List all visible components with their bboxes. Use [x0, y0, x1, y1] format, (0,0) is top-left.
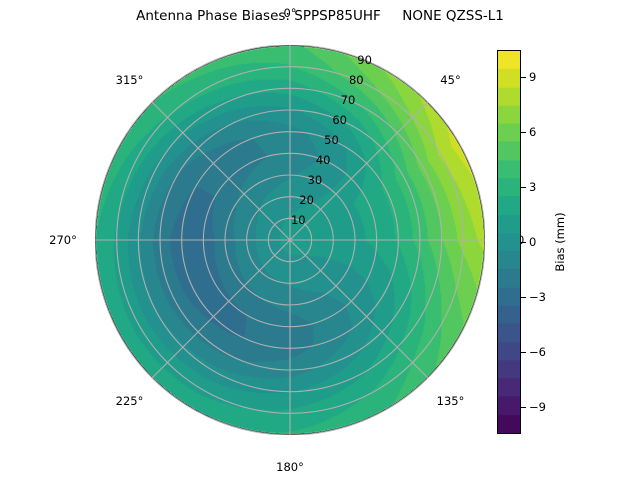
radial-tick-label-80: 80: [349, 73, 364, 87]
radial-tick-label-30: 30: [308, 173, 323, 187]
chart-title: Antenna Phase Biases: SPPSP85UHF NONE QZ…: [0, 8, 640, 24]
colorbar-tick-mark: [521, 352, 526, 353]
radial-tick-label-60: 60: [332, 113, 347, 127]
colorbar[interactable]: 9630−3−6−9: [497, 50, 521, 434]
angular-tick-label-225: 225°: [116, 394, 144, 408]
angular-tick-label-135: 135°: [437, 394, 465, 408]
radial-tick-label-50: 50: [324, 133, 339, 147]
colorbar-tick-mark: [521, 242, 526, 243]
colorbar-tick-label--6: −6: [529, 345, 546, 359]
polar-data-disc: [95, 45, 485, 435]
colorbar-tick-label-9: 9: [529, 70, 536, 84]
polar-contour-canvas: [96, 46, 484, 434]
colorbar-tick-mark: [521, 407, 526, 408]
colorbar-gradient: [497, 50, 521, 434]
figure-canvas: Antenna Phase Biases: SPPSP85UHF NONE QZ…: [0, 0, 640, 480]
colorbar-tick-mark: [521, 187, 526, 188]
angular-tick-label-45: 45°: [440, 73, 460, 87]
angular-tick-label-0: 0°: [283, 6, 296, 20]
radial-tick-label-40: 40: [316, 153, 331, 167]
angular-tick-label-315: 315°: [116, 73, 144, 87]
radial-tick-label-70: 70: [341, 93, 356, 107]
colorbar-tick-mark: [521, 132, 526, 133]
colorbar-label: Bias (mm): [553, 212, 567, 271]
colorbar-tick-mark: [521, 77, 526, 78]
radial-tick-label-10: 10: [291, 213, 306, 227]
colorbar-tick-label-6: 6: [529, 125, 536, 139]
radial-tick-label-90: 90: [357, 53, 372, 67]
radial-tick-label-20: 20: [299, 193, 314, 207]
colorbar-tick-label-3: 3: [529, 180, 536, 194]
colorbar-tick-label--9: −9: [529, 400, 546, 414]
colorbar-tick-label--3: −3: [529, 290, 546, 304]
polar-axes[interactable]: 102030405060708090: [95, 45, 485, 435]
angular-tick-label-270: 270°: [49, 233, 77, 247]
colorbar-tick-mark: [521, 297, 526, 298]
angular-tick-label-180: 180°: [276, 460, 304, 474]
colorbar-tick-label-0: 0: [529, 235, 536, 249]
colorbar-canvas: [498, 51, 520, 433]
